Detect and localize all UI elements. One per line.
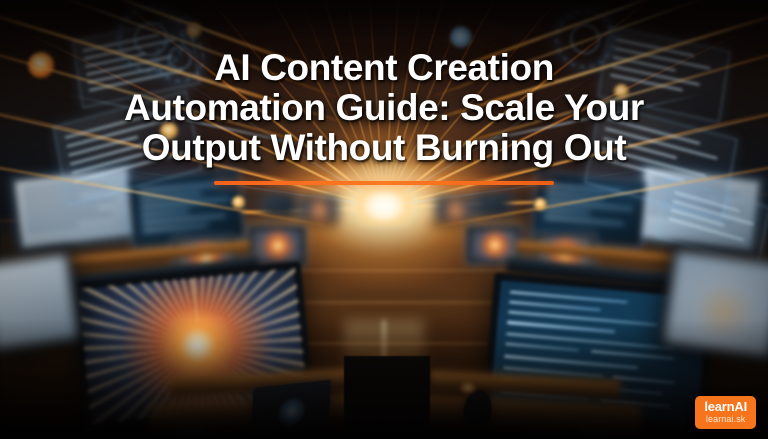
hero-banner: AI Content Creation Automation Guide: Sc…: [0, 0, 768, 439]
hero-title-line-2: Automation Guide: Scale Your: [14, 88, 754, 128]
hero-title-line-1: AI Content Creation: [14, 48, 754, 88]
bottom-shade: [0, 319, 768, 439]
hero-title-block: AI Content Creation Automation Guide: Sc…: [0, 48, 768, 185]
logo-brand-name: learnAI: [704, 400, 747, 413]
title-accent-rule: [214, 181, 554, 185]
hero-title-line-3: Output Without Burning Out: [14, 128, 754, 168]
learnai-logo-badge[interactable]: learnAI learnai.sk: [695, 396, 756, 429]
logo-domain: learnai.sk: [704, 415, 747, 424]
